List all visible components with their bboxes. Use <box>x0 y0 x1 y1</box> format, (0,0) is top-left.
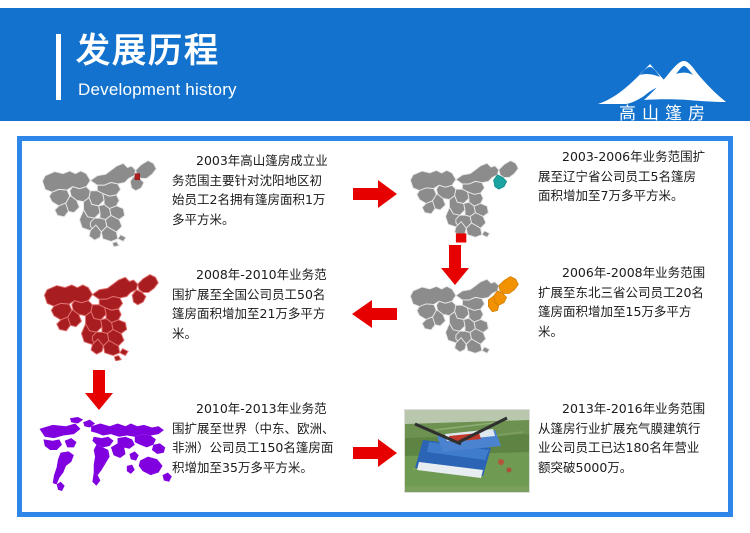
page-header: 发展历程 Development history 高山篷房 <box>0 8 750 121</box>
stage-1-map <box>30 151 170 247</box>
page-title: 发展历程 <box>76 30 220 72</box>
stage-4-text: 2008年-2010年业务范围扩展至全国公司员工50名篷房面积增加至21万多平方… <box>172 265 334 343</box>
stage-3-text: 2006年-2008年业务范围扩展至东北三省公司员工20名篷房面积增加至15万多… <box>538 263 710 341</box>
title-accent-bar <box>56 34 61 100</box>
stage-5-text: 2010年-2013年业务范围扩展至世界（中东、欧洲、非洲）公司员工150名篷房… <box>172 399 336 477</box>
brand-name: 高山篷房 <box>602 99 728 124</box>
stage-1-text: 2003年高山篷房成立业务范围主要针对沈阳地区初始员工2名拥有篷房面积1万多平方… <box>172 151 334 229</box>
timeline-frame: 2003年高山篷房成立业务范围主要针对沈阳地区初始员工2名拥有篷房面积1万多平方… <box>17 136 733 517</box>
company-logo: 高山篷房 <box>596 60 728 122</box>
stage-3-map <box>400 267 530 359</box>
stage-6-text: 2013年-2016年业务范围从篷房行业扩展充气膜建筑行业公司员工已达180名年… <box>538 399 710 477</box>
development-history-infographic: 发展历程 Development history 高山篷房 <box>0 0 750 533</box>
arrow-right-icon-2 <box>352 438 398 473</box>
footer-spacer <box>0 524 750 533</box>
arrow-right-icon <box>352 179 398 214</box>
stage-4-map <box>32 265 172 361</box>
stage-2-text: 2003-2006年业务范围扩展至辽宁省公司员工5名篷房面积增加至7万多平方米。 <box>538 147 708 206</box>
stage-2-map <box>400 151 530 243</box>
stage-5-map <box>30 409 176 495</box>
stage-6-photo <box>404 409 530 493</box>
page-subtitle: Development history <box>78 80 237 100</box>
arrow-left-icon <box>350 299 398 334</box>
